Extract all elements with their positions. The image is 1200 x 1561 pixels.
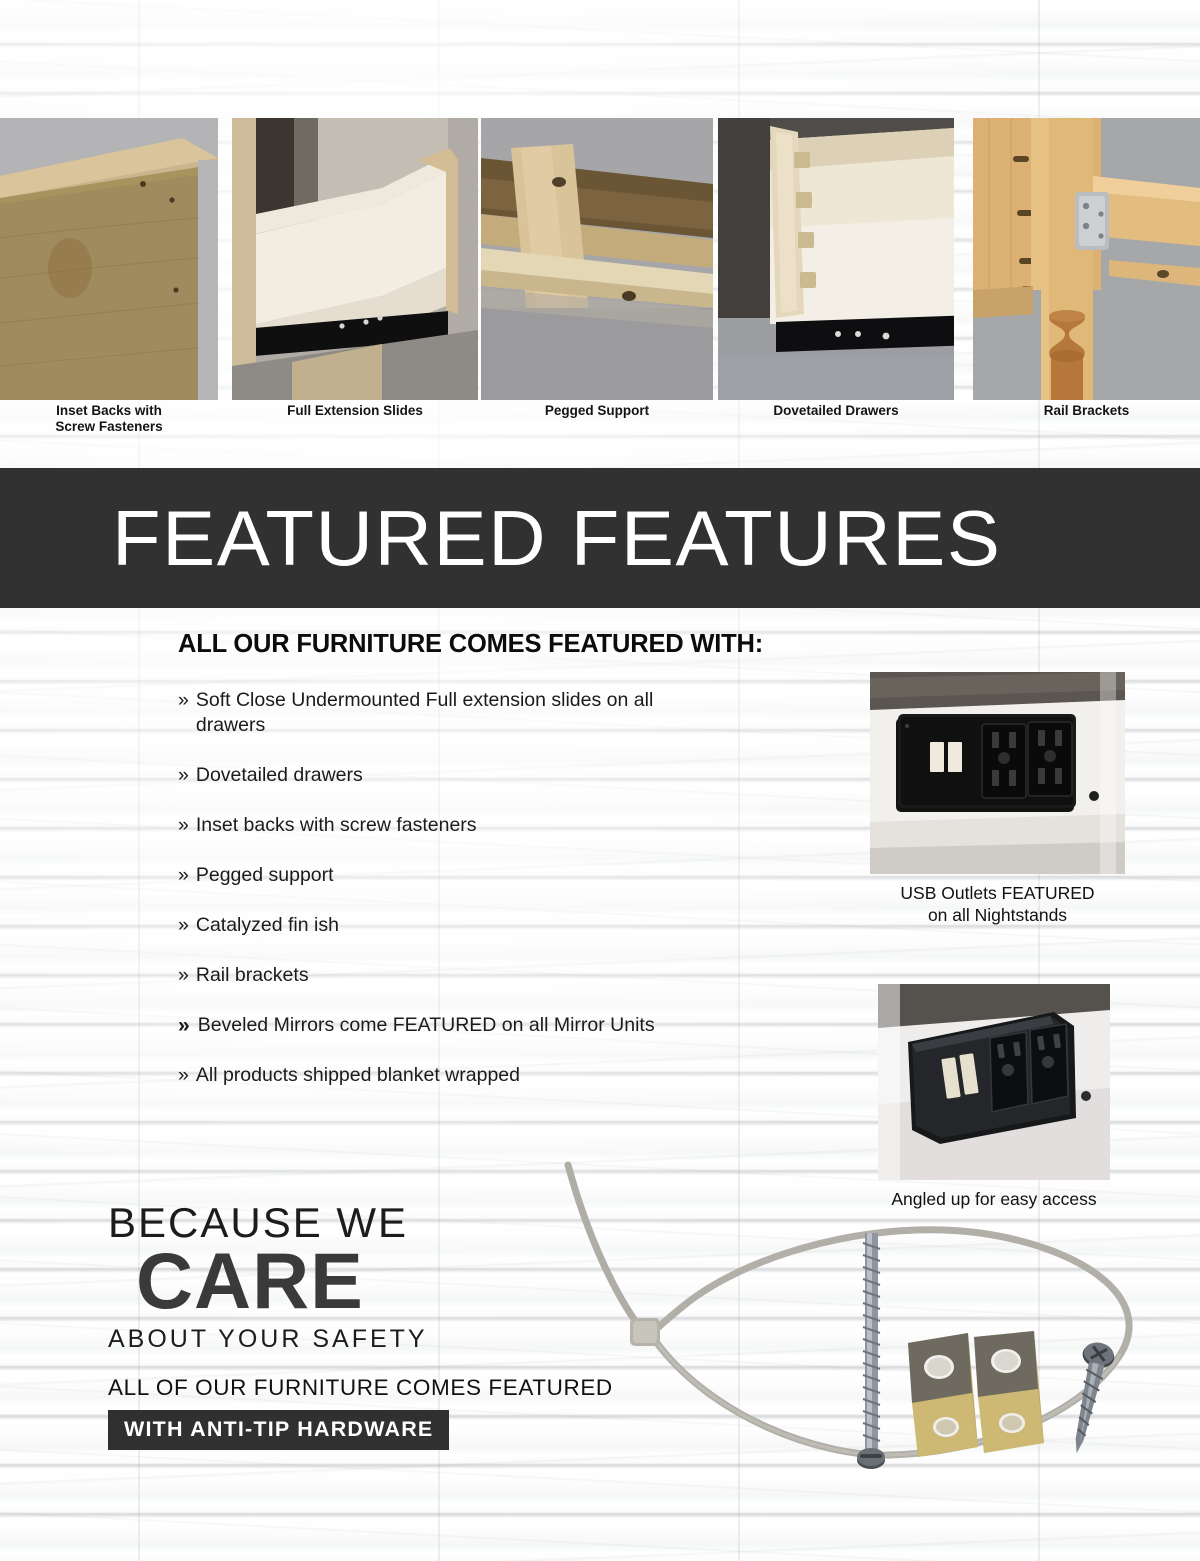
bullet-marker-icon: » <box>178 1013 190 1038</box>
featured-features-banner: FEATURED FEATURES <box>0 468 1200 608</box>
usb-outlet-front-image <box>870 672 1125 874</box>
caption-full-extension-slides: Full Extension Slides <box>232 403 478 419</box>
caption-inset-backs: Inset Backs withScrew Fasteners <box>0 403 218 434</box>
feature-bullet-5: » Catalyzed fin ish <box>178 913 878 938</box>
care-line-care: CARE <box>136 1244 668 1318</box>
bullet-marker-icon: » <box>178 1063 189 1088</box>
feature-photo-strip <box>0 118 1200 400</box>
usb-outlet-angled-image <box>878 984 1110 1180</box>
bullet-marker-icon: » <box>178 913 189 938</box>
care-line-about-your-safety: ABOUT YOUR SAFETY <box>108 1324 668 1354</box>
photo-dovetailed-drawers-image <box>718 118 954 400</box>
usb-outlet-front-svg <box>870 672 1125 874</box>
photo-rail-brackets-image <box>973 118 1200 400</box>
feature-bullet-4: » Pegged support <box>178 863 878 888</box>
features-section: ALL OUR FURNITURE COMES FEATURED WITH: »… <box>178 630 878 1113</box>
feature-bullet-text: Soft Close Undermounted Full extension s… <box>196 688 696 738</box>
feature-bullet-3: » Inset backs with screw fasteners <box>178 813 878 838</box>
feature-bullet-6: » Rail brackets <box>178 963 878 988</box>
feature-bullet-2: » Dovetailed drawers <box>178 763 878 788</box>
feature-bullet-text: Dovetailed drawers <box>196 763 363 788</box>
photo-full-extension-slides-image <box>232 118 478 400</box>
feature-bullet-text: Beveled Mirrors come FEATURED on all Mir… <box>198 1013 655 1038</box>
long-screw-icon <box>857 1233 885 1469</box>
care-line-all-of-our-furniture: ALL OF OUR FURNITURE COMES FEATURED <box>108 1374 668 1401</box>
page-root: Inset Backs withScrew Fasteners Full Ext… <box>0 0 1200 1561</box>
features-heading: ALL OUR FURNITURE COMES FEATURED WITH: <box>178 630 878 659</box>
feature-bullet-text: Inset backs with screw fasteners <box>196 813 477 838</box>
photo-inset-backs-image <box>0 118 218 400</box>
feature-bullet-text: All products shipped blanket wrapped <box>196 1063 520 1088</box>
bullet-marker-icon: » <box>178 863 189 888</box>
photo-dovetailed-drawers <box>718 118 954 400</box>
wood-screw-icon <box>1062 1340 1117 1457</box>
feature-bullet-text: Pegged support <box>196 863 334 888</box>
caption-pegged-support: Pegged Support <box>481 403 713 419</box>
usb-outlet-angled-svg <box>878 984 1110 1180</box>
photo-rail-brackets <box>973 118 1200 400</box>
caption-dovetailed-drawers: Dovetailed Drawers <box>718 403 954 419</box>
photo-pegged-support <box>481 118 713 400</box>
anti-tip-hardware-badge: WITH ANTI-TIP HARDWARE <box>108 1410 449 1450</box>
because-we-care-block: BECAUSE WE CARE ABOUT YOUR SAFETY ALL OF… <box>108 1200 668 1450</box>
photo-inset-backs <box>0 118 218 400</box>
usb-outlet-card-front: USB Outlets FEATURED on all Nightstands <box>870 672 1125 926</box>
feature-bullet-text: Catalyzed fin ish <box>196 913 339 938</box>
bullet-marker-icon: » <box>178 813 189 838</box>
feature-bullet-7: » Beveled Mirrors come FEATURED on all M… <box>178 1013 878 1038</box>
feature-bullet-text: Rail brackets <box>196 963 309 988</box>
caption-rail-brackets: Rail Brackets <box>973 403 1200 419</box>
bracket-right-icon <box>974 1331 1044 1453</box>
banner-title: FEATURED FEATURES <box>112 499 1001 577</box>
photo-caption-row: Inset Backs withScrew Fasteners Full Ext… <box>0 403 1200 449</box>
bullet-marker-icon: » <box>178 688 189 713</box>
photo-full-extension-slides <box>232 118 478 400</box>
bracket-left-icon <box>908 1333 978 1457</box>
bullet-marker-icon: » <box>178 763 189 788</box>
usb-outlet-front-caption: USB Outlets FEATURED on all Nightstands <box>870 883 1125 926</box>
bullet-marker-icon: » <box>178 963 189 988</box>
photo-pegged-support-image <box>481 118 713 400</box>
feature-bullet-8: » All products shipped blanket wrapped <box>178 1063 878 1088</box>
feature-bullet-1: » Soft Close Undermounted Full extension… <box>178 688 878 738</box>
